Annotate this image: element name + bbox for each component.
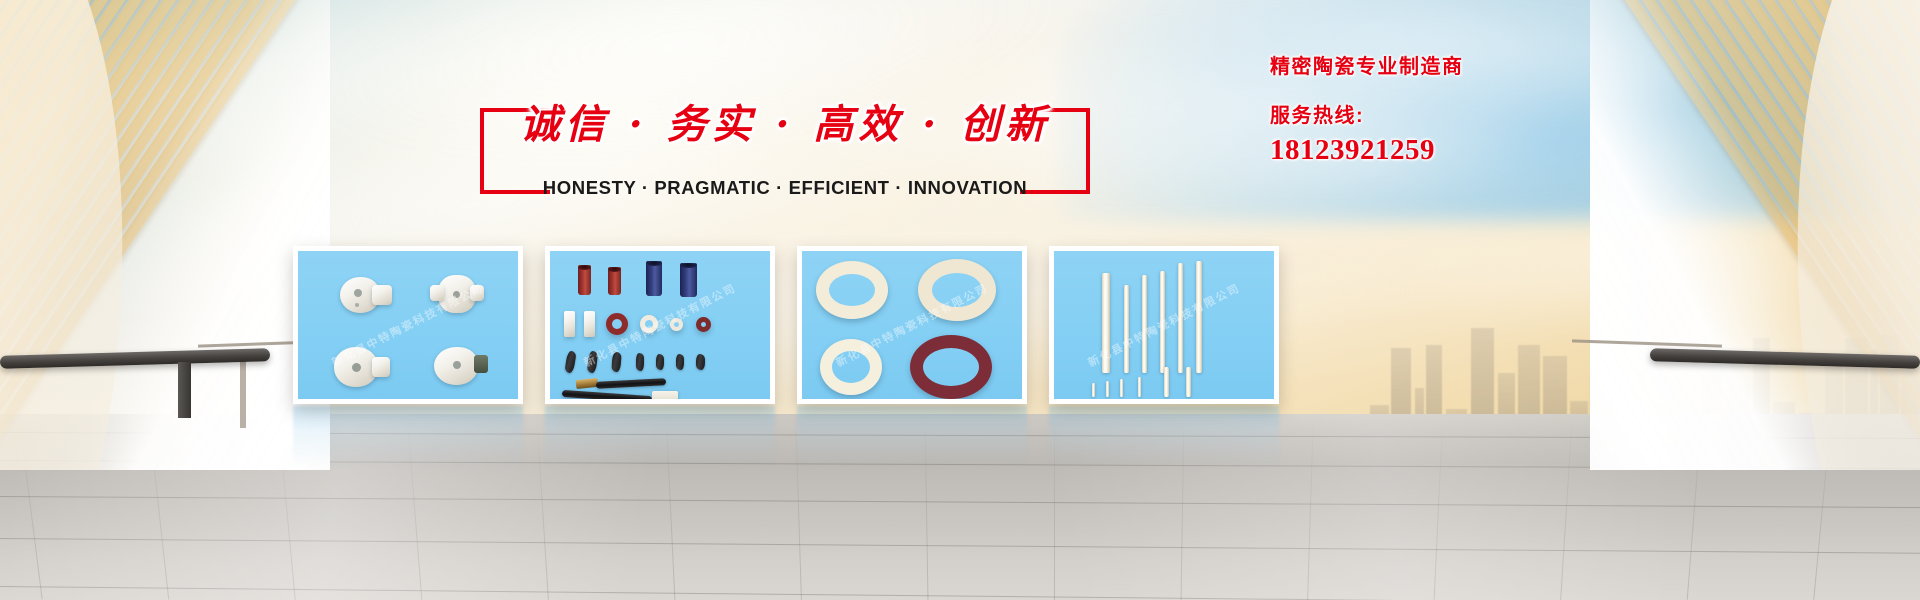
deck-seam-vertical <box>1434 414 1444 600</box>
ceramic-ring-medium <box>820 339 882 395</box>
product-panel-group: 新化县中特陶瓷科技有限公司 <box>293 246 1278 406</box>
wall-slat <box>0 0 61 470</box>
panel-reflection <box>545 406 775 468</box>
product-panel-ceramic-rods[interactable]: 新化县中特陶瓷科技有限公司 <box>1049 246 1279 404</box>
ceramic-rod-short <box>1120 379 1123 397</box>
harness-terminal <box>576 378 599 389</box>
ceramic-rod <box>1160 271 1165 373</box>
wall-slat <box>0 0 330 470</box>
ceramic-ring-large <box>816 261 888 319</box>
wall-slat <box>0 0 27 470</box>
ceramic-fitting-stub <box>372 285 392 305</box>
fitting-metal-contact <box>474 355 488 373</box>
fitting-hole-small <box>355 303 359 307</box>
ceramic-rod <box>1178 263 1183 373</box>
ceramic-tube-red <box>608 267 621 295</box>
ceramic-plate <box>584 311 595 337</box>
wall-slat <box>0 0 265 470</box>
wall-slat <box>0 0 316 470</box>
ceramic-tube-red <box>578 265 591 295</box>
ceramic-ring-white-small <box>670 318 683 331</box>
fitting-hole <box>352 363 361 372</box>
deck-seam <box>0 538 1920 554</box>
wall-slat <box>0 0 231 470</box>
wall-slat <box>0 0 330 470</box>
contact-block: 精密陶瓷专业制造商 服务热线: 18123921259 <box>1270 50 1690 167</box>
wall-slat <box>0 0 78 470</box>
ceramic-blade <box>564 350 576 373</box>
hotline-number[interactable]: 18123921259 <box>1270 134 1690 167</box>
hero-banner: 诚信 · 务实 · 高效 · 创新 HONESTY · PRAGMATIC · … <box>0 0 1920 600</box>
product-panel-tubes-and-harness[interactable]: 新化县中特陶瓷科技有限公司 <box>545 246 775 404</box>
hotline-label: 服务热线: <box>1270 99 1690 128</box>
ceramic-ring-maroon <box>910 335 992 399</box>
wall-slat <box>0 0 197 470</box>
deck-seam-vertical <box>1307 414 1314 600</box>
slogan-english: HONESTY · PRAGMATIC · EFFICIENT · INNOVA… <box>543 177 1027 199</box>
fitting-hole <box>453 291 460 298</box>
harness-wire <box>562 390 652 399</box>
ceramic-blade <box>611 352 621 373</box>
fitting-hole <box>453 361 461 369</box>
harness-connector <box>652 391 678 399</box>
ceramic-rod-short <box>1186 367 1191 397</box>
wall-slat <box>0 0 44 470</box>
ceramic-fitting-tab <box>470 285 484 301</box>
product-panel-ceramic-fittings[interactable]: 新化县中特陶瓷科技有限公司 <box>293 246 523 404</box>
wall-slat <box>0 0 330 470</box>
ceramic-rod <box>1142 275 1147 373</box>
bracket-top-left-vertical <box>480 108 484 191</box>
wall-slat <box>0 0 146 470</box>
ceramic-tube-blue <box>680 263 697 297</box>
wall-slat <box>0 0 180 470</box>
slogan-chinese: 诚信 · 务实 · 高效 · 创新 <box>520 92 1050 150</box>
ceramic-rod <box>1102 273 1110 373</box>
wall-slat <box>0 0 95 470</box>
ceramic-ring-white <box>640 315 658 333</box>
ceramic-blade <box>676 354 684 370</box>
fitting-hole <box>354 289 362 297</box>
handrail-post-left <box>178 362 191 418</box>
ceramic-ring-red <box>606 313 628 335</box>
wall-slat <box>0 0 163 470</box>
company-tagline: 精密陶瓷专业制造商 <box>1270 50 1690 79</box>
wall-slat <box>0 0 299 470</box>
ceramic-rod-short <box>1092 383 1095 397</box>
white-arc-left <box>0 0 330 470</box>
wall-slat <box>0 0 330 470</box>
panel-reflection <box>293 406 523 468</box>
glass-railing-post-left <box>240 352 246 428</box>
bracket-bottom-left-horizontal <box>480 190 550 194</box>
bracket-bottom-right-horizontal <box>1020 190 1090 194</box>
ceramic-tube-blue <box>646 261 662 296</box>
ceramic-blade <box>636 353 644 371</box>
panel-reflection <box>797 406 1027 468</box>
ceramic-ring-red-small <box>696 317 711 332</box>
deck-seam <box>0 496 1920 508</box>
ceramic-blade <box>656 354 664 370</box>
ceramic-rod <box>1124 285 1129 373</box>
headline-block: 诚信 · 务实 · 高效 · 创新 HONESTY · PRAGMATIC · … <box>480 108 1090 194</box>
ceramic-ring-large <box>918 259 996 321</box>
wall-slat <box>0 0 330 470</box>
wall-slat <box>0 0 129 470</box>
left-slat-wall <box>0 0 330 470</box>
wall-slat <box>0 0 248 470</box>
ceramic-rod-short <box>1106 381 1109 397</box>
white-arc-left-outer <box>0 0 150 470</box>
deck-seam <box>0 586 1920 600</box>
ceramic-blade <box>587 351 598 374</box>
bracket-top-right-vertical <box>1086 108 1090 191</box>
ceramic-plate <box>564 311 575 337</box>
ceramic-rod-short <box>1164 367 1169 397</box>
ceramic-fitting-tab <box>430 285 444 301</box>
ceramic-fitting-stub <box>372 357 390 377</box>
ceramic-rod-short <box>1138 377 1141 397</box>
wall-slat <box>0 0 10 470</box>
harness-wire <box>596 378 666 389</box>
ceramic-blade <box>696 354 705 370</box>
panel-reflection <box>1049 406 1279 468</box>
product-panel-ceramic-rings[interactable]: 新化县中特陶瓷科技有限公司 <box>797 246 1027 404</box>
ceramic-rod <box>1196 261 1202 373</box>
deck-seam-vertical <box>1560 414 1573 600</box>
wall-slat <box>0 0 112 470</box>
